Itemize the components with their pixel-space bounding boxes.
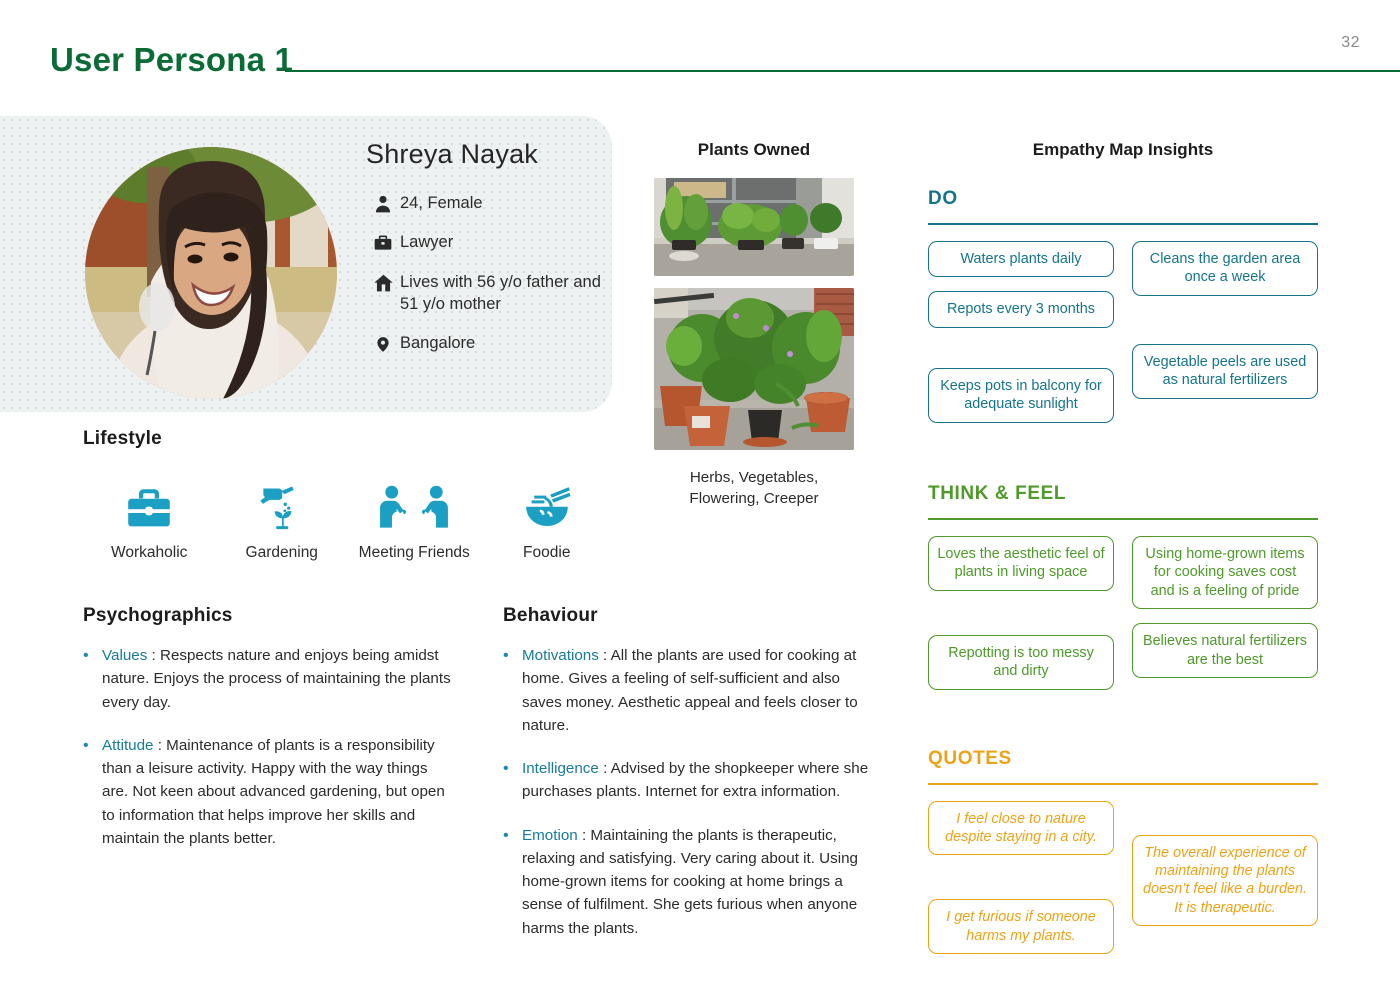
empathy-block-do: DO Waters plants daily Repots every 3 mo… <box>928 188 1318 437</box>
location-pin-icon <box>366 332 400 355</box>
bullet-icon: • <box>83 734 102 850</box>
people-meeting-icon <box>348 476 481 532</box>
psychographics-label-attitude: Attitude <box>102 737 154 754</box>
psychographics-text-attitude: : Maintenance of plants is a responsibil… <box>102 737 445 847</box>
briefcase-icon <box>366 231 400 253</box>
avatar <box>85 147 337 399</box>
empathy-chip[interactable]: Cleans the garden area once a week <box>1132 241 1318 296</box>
empathy-column-right-do: Cleans the garden area once a week Veget… <box>1132 241 1318 437</box>
empathy-heading-do: DO <box>928 188 1318 210</box>
behaviour-list: • Motivations : All the plants are used … <box>503 644 873 940</box>
lifestyle-section: Lifestyle Workaholic G <box>83 428 613 564</box>
plants-owned-title: Plants Owned <box>654 140 854 160</box>
lifestyle-label-foodie: Foodie <box>481 543 614 564</box>
persona-page: 32 User Persona 1 <box>0 0 1400 990</box>
info-row-age-gender: 24, Female <box>366 192 601 214</box>
briefcase-icon <box>83 476 216 532</box>
empathy-divider-think-feel <box>928 518 1318 520</box>
empathy-chip[interactable]: Repots every 3 months <box>928 291 1114 327</box>
plants-owned-caption: Herbs, Vegetables, Flowering, Creeper <box>654 468 854 510</box>
info-text-location: Bangalore <box>400 332 475 354</box>
empathy-block-think-feel: THINK & FEEL Loves the aesthetic feel of… <box>928 483 1318 704</box>
empathy-column-right-think-feel: Using home-grown items for cooking saves… <box>1132 536 1318 704</box>
lifestyle-heading: Lifestyle <box>83 428 613 450</box>
behaviour-label-emotion: Emotion <box>522 827 578 844</box>
empathy-chip[interactable]: Waters plants daily <box>928 241 1114 277</box>
lifestyle-label-meeting-friends: Meeting Friends <box>348 543 481 564</box>
empathy-column-right-quotes: The overall experience of maintaining th… <box>1132 801 1318 969</box>
empathy-column-left-quotes: I feel close to nature despite staying i… <box>928 801 1114 969</box>
empathy-chip[interactable]: Loves the aesthetic feel of plants in li… <box>928 536 1114 591</box>
watering-can-icon <box>216 476 349 532</box>
empathy-divider-quotes <box>928 783 1318 785</box>
plants-photo-balcony <box>654 288 854 450</box>
empathy-columns-think-feel: Loves the aesthetic feel of plants in li… <box>928 536 1318 704</box>
profile-card: Shreya Nayak 24, Female Lawyer Lives wit… <box>0 116 612 412</box>
lifestyle-item-workaholic: Workaholic <box>83 476 216 564</box>
person-icon <box>366 192 400 214</box>
empathy-map-section: Empathy Map Insights DO Waters plants da… <box>928 140 1318 968</box>
list-item: • Emotion : Maintaining the plants is th… <box>503 824 873 940</box>
empathy-column-left-think-feel: Loves the aesthetic feel of plants in li… <box>928 536 1114 704</box>
empathy-chip[interactable]: Believes natural fertilizers are the bes… <box>1132 623 1318 678</box>
empathy-chip[interactable]: Repotting is too messy and dirty <box>928 635 1114 690</box>
bullet-icon: • <box>503 824 522 940</box>
persona-name: Shreya Nayak <box>366 139 601 170</box>
empathy-chip[interactable]: Keeps pots in balcony for adequate sunli… <box>928 368 1114 423</box>
bullet-icon: • <box>503 757 522 804</box>
info-text-occupation: Lawyer <box>400 231 453 253</box>
behaviour-heading: Behaviour <box>503 605 873 627</box>
list-item: • Attitude : Maintenance of plants is a … <box>83 734 453 850</box>
psychographics-label-values: Values <box>102 647 147 664</box>
list-item: • Motivations : All the plants are used … <box>503 644 873 737</box>
behaviour-label-motivations: Motivations <box>522 647 599 664</box>
empathy-heading-think-feel: THINK & FEEL <box>928 483 1318 505</box>
info-text-household: Lives with 56 y/o father and 51 y/o moth… <box>400 271 601 316</box>
plants-photo-windowsill <box>654 178 854 276</box>
empathy-map-title: Empathy Map Insights <box>928 140 1318 160</box>
noodle-bowl-icon <box>481 476 614 532</box>
psychographics-heading: Psychographics <box>83 605 453 627</box>
info-row-occupation: Lawyer <box>366 231 601 253</box>
empathy-column-left-do: Waters plants daily Repots every 3 month… <box>928 241 1114 437</box>
empathy-divider-do <box>928 223 1318 225</box>
lifestyle-item-gardening: Gardening <box>216 476 349 564</box>
info-row-location: Bangalore <box>366 332 601 355</box>
psychographics-list: • Values : Respects nature and enjoys be… <box>83 644 453 850</box>
psychographics-text-values: : Respects nature and enjoys being amids… <box>102 647 451 711</box>
behaviour-section: Behaviour • Motivations : All the plants… <box>503 605 873 960</box>
lifestyle-item-foodie: Foodie <box>481 476 614 564</box>
lifestyle-label-workaholic: Workaholic <box>83 543 216 564</box>
empathy-chip[interactable]: Using home-grown items for cooking saves… <box>1132 536 1318 609</box>
page-number: 32 <box>1341 34 1360 52</box>
header-divider <box>285 70 1400 72</box>
lifestyle-item-meeting-friends: Meeting Friends <box>348 476 481 564</box>
info-text-age-gender: 24, Female <box>400 192 483 214</box>
avatar-photo <box>85 147 337 399</box>
quote-chip[interactable]: The overall experience of maintaining th… <box>1132 835 1318 927</box>
psychographics-section: Psychographics • Values : Respects natur… <box>83 605 453 870</box>
list-item: • Intelligence : Advised by the shopkeep… <box>503 757 873 804</box>
plants-owned-section: Plants Owned <box>654 140 854 510</box>
info-row-household: Lives with 56 y/o father and 51 y/o moth… <box>366 271 601 316</box>
profile-info: Shreya Nayak 24, Female Lawyer Lives wit… <box>366 139 601 372</box>
empathy-columns-quotes: I feel close to nature despite staying i… <box>928 801 1318 969</box>
bullet-icon: • <box>503 644 522 737</box>
list-item: • Values : Respects nature and enjoys be… <box>83 644 453 714</box>
empathy-block-quotes: QUOTES I feel close to nature despite st… <box>928 748 1318 969</box>
lifestyle-items: Workaholic Gardening <box>83 476 613 564</box>
empathy-chip[interactable]: Vegetable peels are used as natural fert… <box>1132 344 1318 399</box>
empathy-heading-quotes: QUOTES <box>928 748 1318 770</box>
bullet-icon: • <box>83 644 102 714</box>
empathy-columns-do: Waters plants daily Repots every 3 month… <box>928 241 1318 437</box>
home-icon <box>366 271 400 294</box>
page-title: User Persona 1 <box>50 41 293 79</box>
quote-chip[interactable]: I feel close to nature despite staying i… <box>928 801 1114 856</box>
quote-chip[interactable]: I get furious if someone harms my plants… <box>928 899 1114 954</box>
behaviour-label-intelligence: Intelligence <box>522 760 599 777</box>
lifestyle-label-gardening: Gardening <box>216 543 349 564</box>
